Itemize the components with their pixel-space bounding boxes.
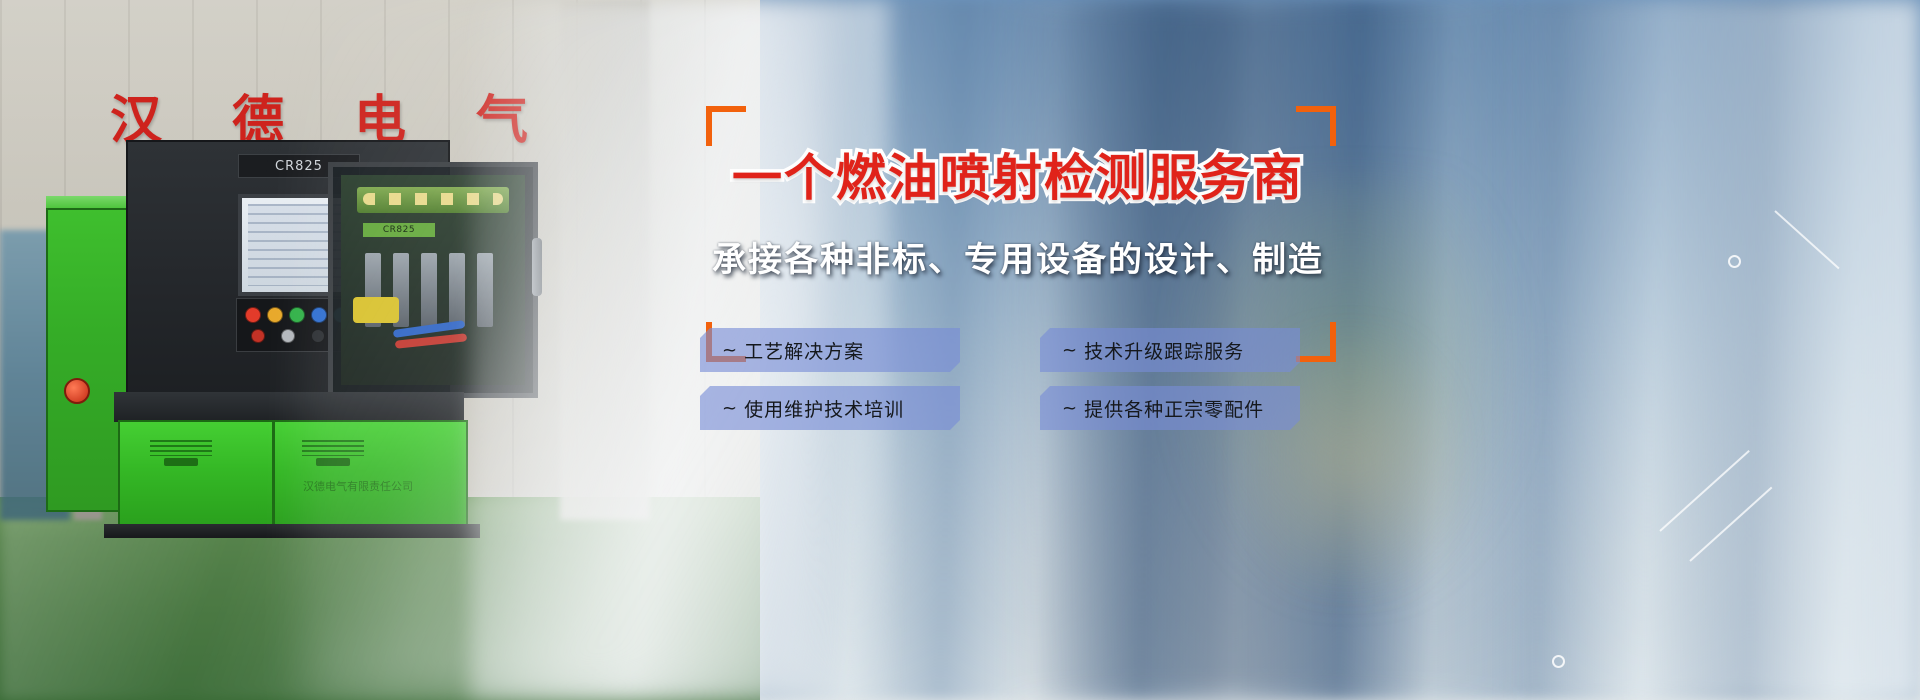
tag-tilde-icon: ~ bbox=[1062, 398, 1078, 419]
control-button-green bbox=[289, 307, 305, 323]
background-right-glow bbox=[1500, 0, 1920, 700]
service-tag-row-2: ~ 使用维护技术培训 ~ 提供各种正宗零配件 bbox=[700, 386, 1340, 430]
service-tag-label: 提供各种正宗零配件 bbox=[1084, 395, 1264, 422]
emergency-stop-button-icon bbox=[64, 378, 90, 404]
control-button-red bbox=[245, 307, 261, 323]
cabinet-company-text: 汉德电气有限责任公司 bbox=[278, 478, 438, 492]
control-button-blue bbox=[311, 307, 327, 323]
machine-plinth bbox=[104, 524, 480, 538]
cabinet-vent-left bbox=[150, 440, 212, 456]
tag-tilde-icon: ~ bbox=[722, 398, 738, 419]
injector-4 bbox=[449, 253, 465, 327]
service-tag-list: ~ 工艺解决方案 ~ 技术升级跟踪服务 ~ 使用维护技术培训 ~ 提供各种正宗零… bbox=[700, 328, 1340, 444]
chamber-model-badge: CR825 bbox=[363, 223, 435, 237]
control-knob-grey bbox=[281, 329, 295, 343]
decor-circle-top bbox=[1728, 255, 1741, 268]
service-tag-row-1: ~ 工艺解决方案 ~ 技术升级跟踪服务 bbox=[700, 328, 1340, 372]
hero-banner: 汉 德 电 气 CR825 CR825 bbox=[0, 0, 1920, 700]
decor-circle-bottom bbox=[1552, 655, 1565, 668]
machine-worktop bbox=[114, 392, 464, 422]
control-button-amber bbox=[267, 307, 283, 323]
service-tag-label: 使用维护技术培训 bbox=[744, 395, 904, 422]
hose-yellow bbox=[353, 297, 399, 323]
service-tag-label: 技术升级跟踪服务 bbox=[1084, 337, 1244, 364]
hero-content: 一个燃油喷射检测服务商 承接各种非标、专用设备的设计、制造 ~ 工艺解决方案 ~… bbox=[700, 100, 1400, 560]
service-tag-training[interactable]: ~ 使用维护技术培训 bbox=[700, 386, 960, 430]
injector-3 bbox=[421, 253, 437, 327]
service-tag-parts[interactable]: ~ 提供各种正宗零配件 bbox=[1040, 386, 1300, 430]
machine-body: CR825 CR825 bbox=[126, 140, 450, 412]
control-knob-red bbox=[251, 329, 265, 343]
tag-tilde-icon: ~ bbox=[722, 340, 738, 361]
service-tag-label: 工艺解决方案 bbox=[744, 337, 864, 364]
tag-tilde-icon: ~ bbox=[1062, 340, 1078, 361]
cabinet-handle-left bbox=[164, 458, 198, 466]
hero-headline: 一个燃油喷射检测服务商 bbox=[700, 138, 1336, 210]
cabinet-handle-right bbox=[316, 458, 350, 466]
machine-lower-cabinet bbox=[118, 420, 468, 528]
control-knob-dark bbox=[311, 329, 325, 343]
cabinet-vent-right bbox=[302, 440, 364, 456]
service-tag-process-solution[interactable]: ~ 工艺解决方案 bbox=[700, 328, 960, 372]
service-tag-tech-upgrade[interactable]: ~ 技术升级跟踪服务 bbox=[1040, 328, 1300, 372]
cabinet-door-seam bbox=[272, 420, 275, 524]
hero-subheadline: 承接各种非标、专用设备的设计、制造 bbox=[700, 232, 1336, 281]
